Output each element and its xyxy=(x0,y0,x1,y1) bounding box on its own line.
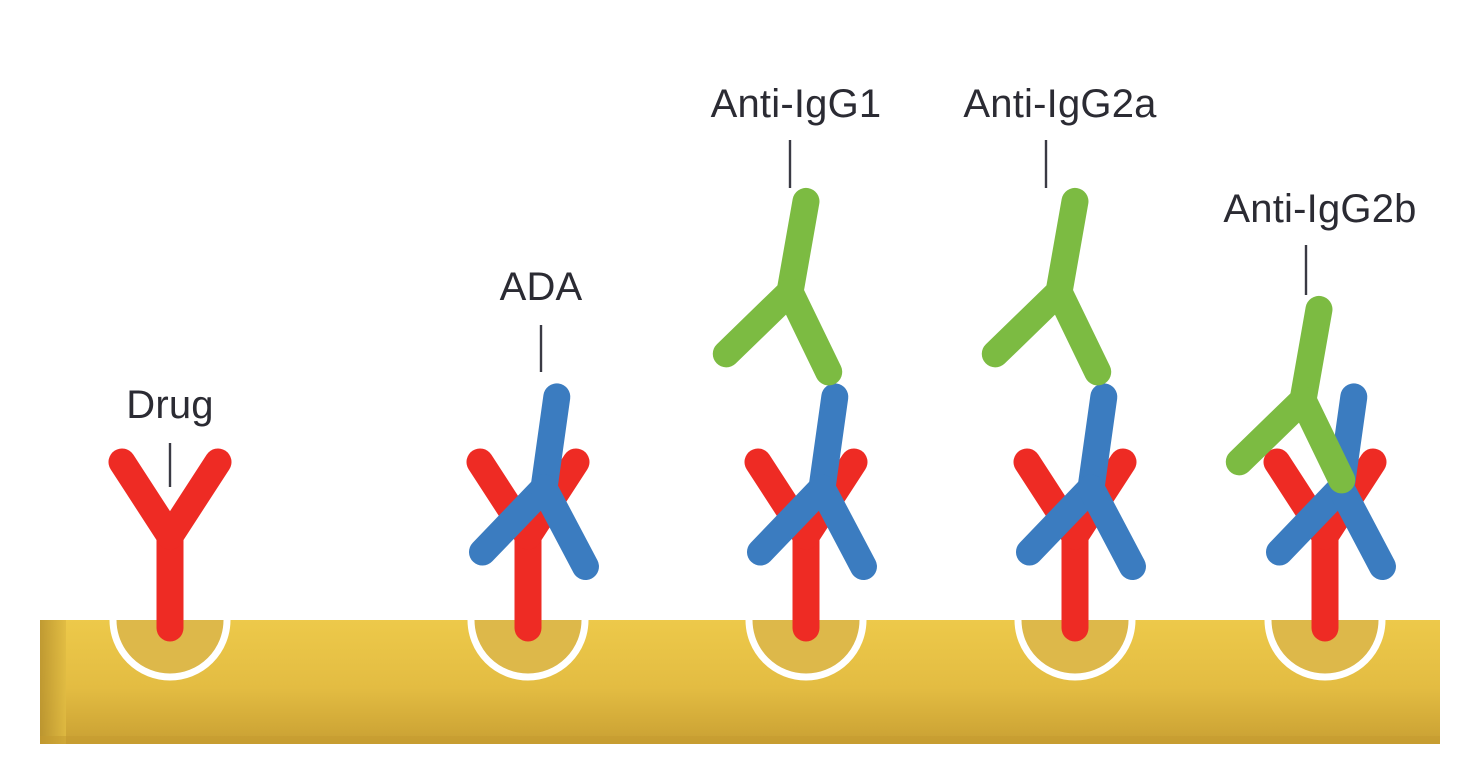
plate-bottom-bevel xyxy=(40,736,1440,744)
plate-body xyxy=(40,620,1440,744)
label-anti_igg2b: Anti-IgG2b xyxy=(1223,187,1416,231)
label-group-anti_igg2a: Anti-IgG2a xyxy=(963,82,1157,188)
column-anti-igg1 xyxy=(726,192,886,628)
figure-canvas: DrugADAAnti-IgG1Anti-IgG2aAnti-IgG2b xyxy=(0,0,1480,774)
fc-stem xyxy=(1059,201,1075,292)
anti-igg-antibody-free xyxy=(726,192,857,372)
label-group-anti_igg1: Anti-IgG1 xyxy=(711,82,882,188)
fc-stem xyxy=(822,397,835,488)
entity-labels: DrugADAAnti-IgG1Anti-IgG2aAnti-IgG2b xyxy=(126,82,1416,487)
anti-igg-antibody-free xyxy=(995,192,1126,372)
label-anti_igg1: Anti-IgG1 xyxy=(711,82,882,126)
label-ada: ADA xyxy=(500,265,583,309)
fc-stem xyxy=(544,397,557,488)
fab-arm-right xyxy=(170,462,218,536)
label-group-anti_igg2b: Anti-IgG2b xyxy=(1223,187,1416,295)
fab-arm-right xyxy=(1046,292,1110,372)
fc-stem xyxy=(1303,309,1319,400)
column-anti-igg2a xyxy=(995,192,1155,628)
label-anti_igg2a: Anti-IgG2a xyxy=(963,82,1157,126)
fc-stem xyxy=(1091,397,1104,488)
column-anti-igg2b xyxy=(1239,300,1405,628)
immunoassay-diagram: DrugADAAnti-IgG1Anti-IgG2aAnti-IgG2b xyxy=(0,0,1480,774)
plate-left-bevel xyxy=(40,620,66,744)
label-drug: Drug xyxy=(126,383,214,427)
assay-plate xyxy=(40,620,1440,744)
label-group-ada: ADA xyxy=(500,265,583,372)
antibody-complexes xyxy=(122,192,1405,628)
fc-stem xyxy=(790,201,806,292)
column-drug-ada xyxy=(480,390,608,628)
fab-arm-right xyxy=(777,292,841,372)
